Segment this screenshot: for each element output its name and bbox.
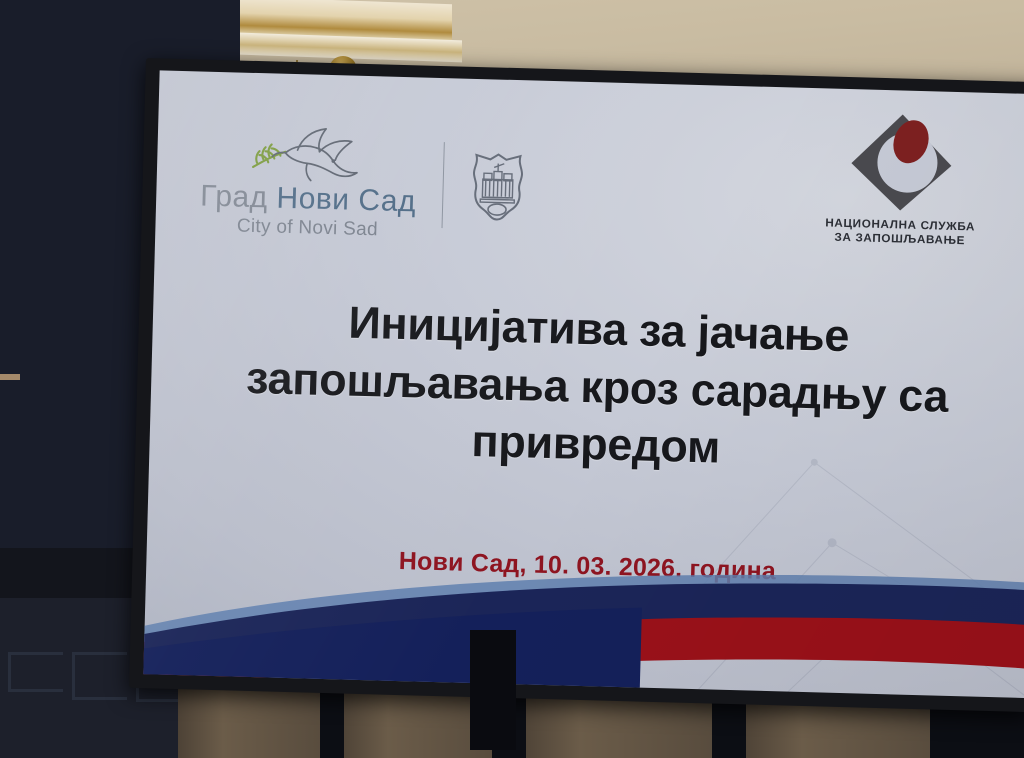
city-logo-prefix: Град bbox=[200, 180, 268, 215]
display-stand bbox=[470, 630, 516, 750]
display-screen: Град Нови Сад City of Novi Sad bbox=[143, 70, 1024, 698]
city-logo-name-english: City of Novi Sad bbox=[237, 216, 379, 242]
novi-sad-coat-of-arms-icon bbox=[469, 148, 527, 223]
wall-light-sliver bbox=[0, 374, 20, 380]
tricolor-swoosh-graphic bbox=[143, 532, 1024, 698]
meander-pattern bbox=[72, 652, 127, 700]
nsz-logo-text: НАЦИОНАЛНА СЛУЖБА ЗА ЗАПОШЉАВАЊЕ bbox=[824, 216, 974, 249]
nsz-logo: НАЦИОНАЛНА СЛУЖБА ЗА ЗАПОШЉАВАЊЕ bbox=[809, 108, 993, 250]
dove-with-olive-branch-icon bbox=[249, 121, 371, 186]
presentation-display: Град Нови Сад City of Novi Sad bbox=[129, 58, 1024, 712]
city-logo-main: Нови Сад bbox=[276, 182, 416, 219]
slide-title: Иницијатива за јачање запошљавања кроз с… bbox=[199, 290, 995, 484]
slide-content: Град Нови Сад City of Novi Sad bbox=[143, 70, 1024, 698]
city-logo-name: Град Нови Сад bbox=[200, 182, 417, 218]
city-of-novi-sad-logo: Град Нови Сад City of Novi Sad bbox=[199, 120, 527, 246]
nsz-logo-line2: ЗА ЗАПОШЉАВАЊЕ bbox=[824, 231, 974, 249]
photo-scene: Град Нови Сад City of Novi Sad bbox=[0, 0, 1024, 758]
meander-pattern bbox=[8, 652, 63, 692]
logo-divider bbox=[441, 142, 444, 228]
nsz-diamond-circle-icon bbox=[846, 109, 957, 216]
city-logo-text-block: Град Нови Сад City of Novi Sad bbox=[199, 120, 418, 243]
